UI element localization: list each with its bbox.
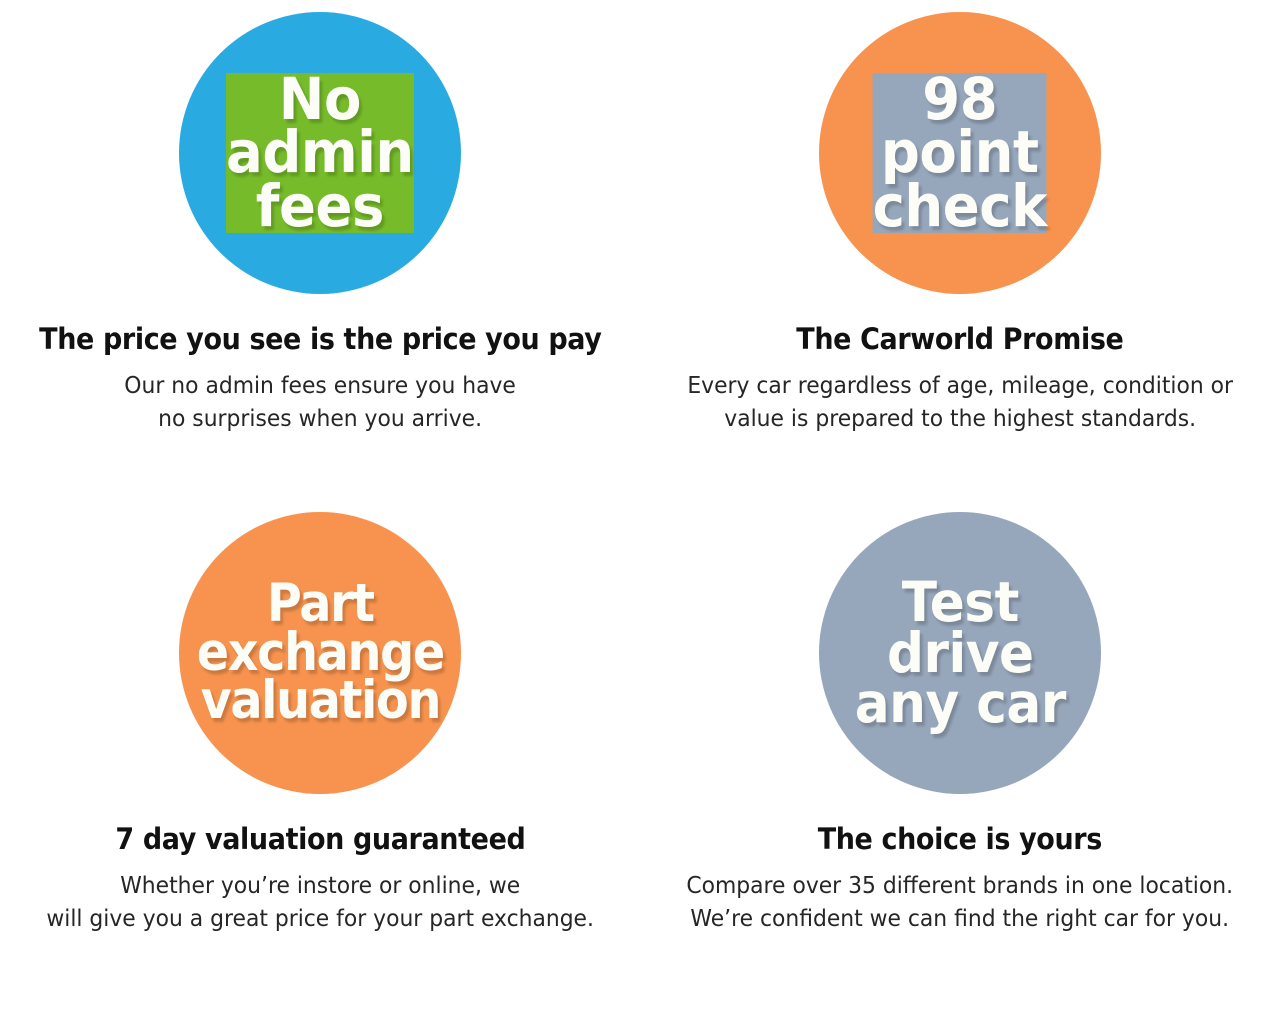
badge-no-admin-fees: No admin fees <box>179 12 461 294</box>
usp-body: Compare over 35 different brands in one … <box>673 870 1246 935</box>
usp-card-part-exchange-valuation: Part exchange valuation 7 day valuation … <box>0 512 640 1012</box>
badge-test-drive-any-car: Test drive any car <box>819 512 1101 794</box>
usp-heading: The choice is yours <box>810 824 1109 856</box>
badge-label: Test drive any car <box>854 577 1065 729</box>
usp-card-no-admin-fees: No admin fees The price you see is the p… <box>0 12 640 512</box>
badge-part-exchange-valuation: Part exchange valuation <box>179 512 461 794</box>
usp-heading: 7 day valuation guaranteed <box>108 824 533 856</box>
usp-heading: The price you see is the price you pay <box>31 324 608 356</box>
usp-heading: The Carworld Promise <box>789 324 1131 356</box>
usp-body: Whether you’re instore or online, we wil… <box>33 870 607 935</box>
usp-card-test-drive-any-car: Test drive any car The choice is yours C… <box>640 512 1280 1012</box>
badge-98-point-check: 98 point check <box>819 12 1101 294</box>
badge-label: No admin fees <box>226 73 414 233</box>
usp-grid: No admin fees The price you see is the p… <box>0 0 1280 1024</box>
badge-label: Part exchange valuation <box>196 580 443 726</box>
usp-body: Our no admin fees ensure you have no sur… <box>111 370 529 435</box>
badge-label: 98 point check <box>873 73 1047 233</box>
usp-card-98-point-check: 98 point check The Carworld Promise Ever… <box>640 12 1280 512</box>
usp-body: Every car regardless of age, mileage, co… <box>674 370 1246 435</box>
